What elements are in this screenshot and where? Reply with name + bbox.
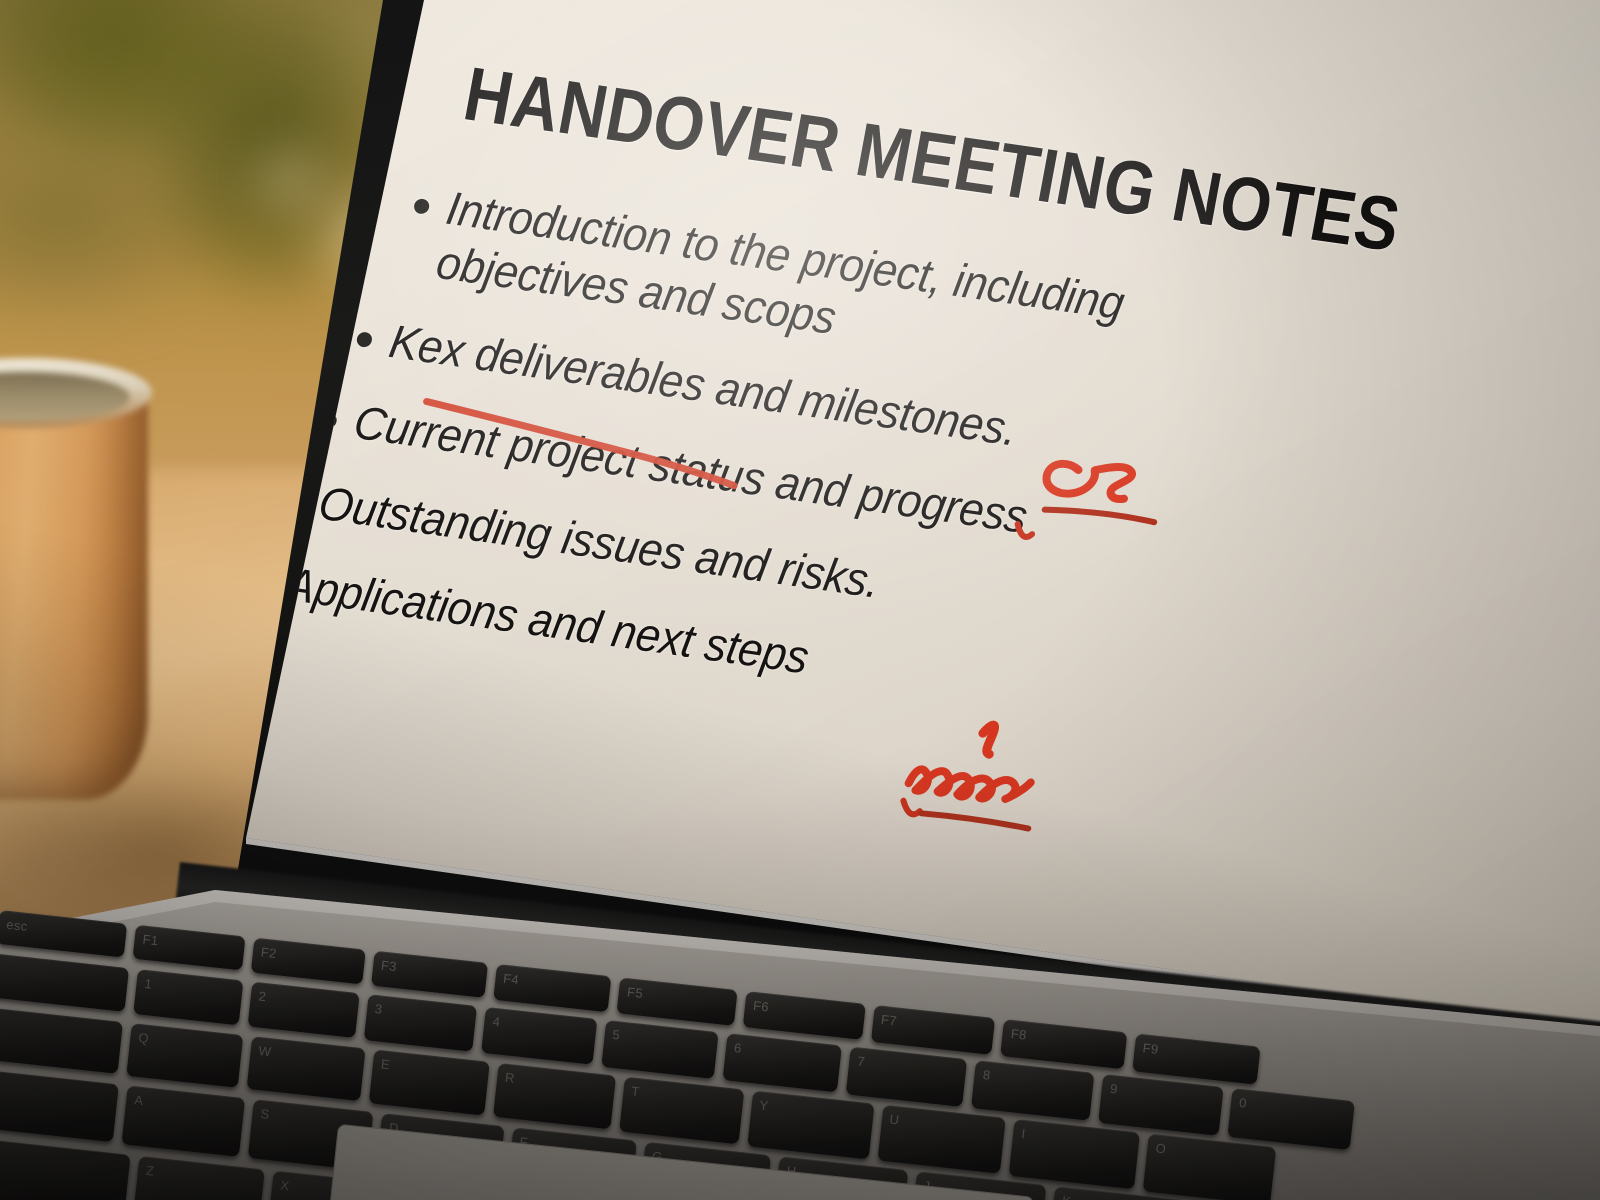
keyboard-key[interactable]: O [1143,1134,1276,1200]
keyboard-key[interactable]: F2 [251,938,366,985]
keyboard-key[interactable]: U [877,1105,1006,1174]
key-label: Q [138,1030,150,1046]
key-label: S [260,1106,271,1122]
key-label: F6 [752,998,769,1015]
key-label: I [1021,1126,1027,1141]
key-label: 5 [612,1027,621,1043]
key-label: X [280,1177,291,1193]
keyboard-key[interactable]: T [619,1077,744,1145]
key-label: 0 [1238,1095,1247,1111]
key-label: K [1061,1193,1072,1200]
key-label: 2 [258,988,267,1004]
key-label: F1 [142,932,159,949]
keyboard-key[interactable]: F9 [1132,1033,1261,1084]
keyboard-key[interactable]: F8 [1000,1019,1127,1069]
key-label: 1 [144,976,153,992]
keyboard-key[interactable]: F5 [617,977,738,1026]
key-label: F2 [260,944,277,961]
key-label: F5 [626,984,643,1001]
key-label: R [504,1070,515,1086]
keyboard[interactable]: escF1F2F3F4F5F6F7F8F9 ~1234567890 tabQWE… [0,900,1600,1200]
keyboard-key[interactable]: esc [0,910,127,958]
key-label: 9 [1109,1081,1118,1097]
keyboard-key[interactable]: 5 [601,1020,719,1079]
keyboard-key[interactable]: 1 [133,969,243,1025]
key-label: F4 [502,971,519,988]
key-label: F9 [1142,1040,1159,1057]
key-label: F8 [1010,1026,1027,1043]
key-label: F7 [880,1012,897,1029]
key-label: T [631,1083,641,1099]
key-label: 3 [374,1001,383,1017]
keyboard-key[interactable]: 9 [1098,1074,1223,1136]
key-label: 4 [492,1014,501,1030]
key-label: W [258,1043,272,1059]
photo-scene: HANDOVER MEETING NOTES Introduction to t… [0,0,1600,1200]
keyboard-key[interactable]: A [121,1085,245,1156]
key-label: O [1155,1140,1167,1156]
key-label: 8 [982,1067,991,1083]
keyboard-key[interactable]: 0 [1227,1088,1354,1150]
keyboard-key[interactable]: W [246,1036,365,1101]
keyboard-key[interactable]: ~ [0,952,129,1012]
keyboard-key[interactable]: 3 [363,994,477,1051]
laptop: HANDOVER MEETING NOTES Introduction to t… [0,0,1600,1200]
annotation-scribble-tail-icon [901,801,921,816]
key-label: E [380,1056,391,1072]
key-label: F3 [380,958,397,975]
bullet-dot-icon [356,331,374,348]
keyboard-key[interactable]: F1 [132,925,245,971]
keyboard-key[interactable]: R [493,1063,616,1130]
bullet-dot-icon [413,198,431,215]
keyboard-key[interactable]: F4 [493,964,612,1012]
key-label: U [889,1112,900,1128]
key-label: 7 [857,1053,866,1069]
key-label: A [134,1092,145,1108]
keyboard-key[interactable]: F7 [871,1005,996,1055]
keyboard-key[interactable]: 2 [247,982,359,1038]
keyboard-key[interactable]: I [1009,1119,1140,1189]
keyboard-key[interactable]: 7 [846,1047,968,1107]
keyboard-key[interactable]: Q [126,1023,243,1087]
annotation-scribble-underline-icon [921,812,1028,829]
key-label: Z [145,1163,155,1179]
keyboard-key[interactable]: 4 [481,1007,597,1065]
keyboard-key[interactable]: F6 [743,991,866,1040]
annotation-handwriting-scribble-icon [908,766,1031,807]
keyboard-key[interactable]: E [369,1049,490,1115]
key-label: esc [6,917,29,934]
key-label: 6 [733,1040,742,1056]
keyboard-key[interactable]: Y [747,1091,874,1160]
keyboard-key[interactable]: 6 [723,1033,843,1092]
keyboard-key[interactable]: 8 [971,1060,1094,1121]
key-label: Y [759,1097,770,1113]
bullet-dot-icon [252,574,270,591]
keyboard-key[interactable]: F3 [371,951,488,998]
